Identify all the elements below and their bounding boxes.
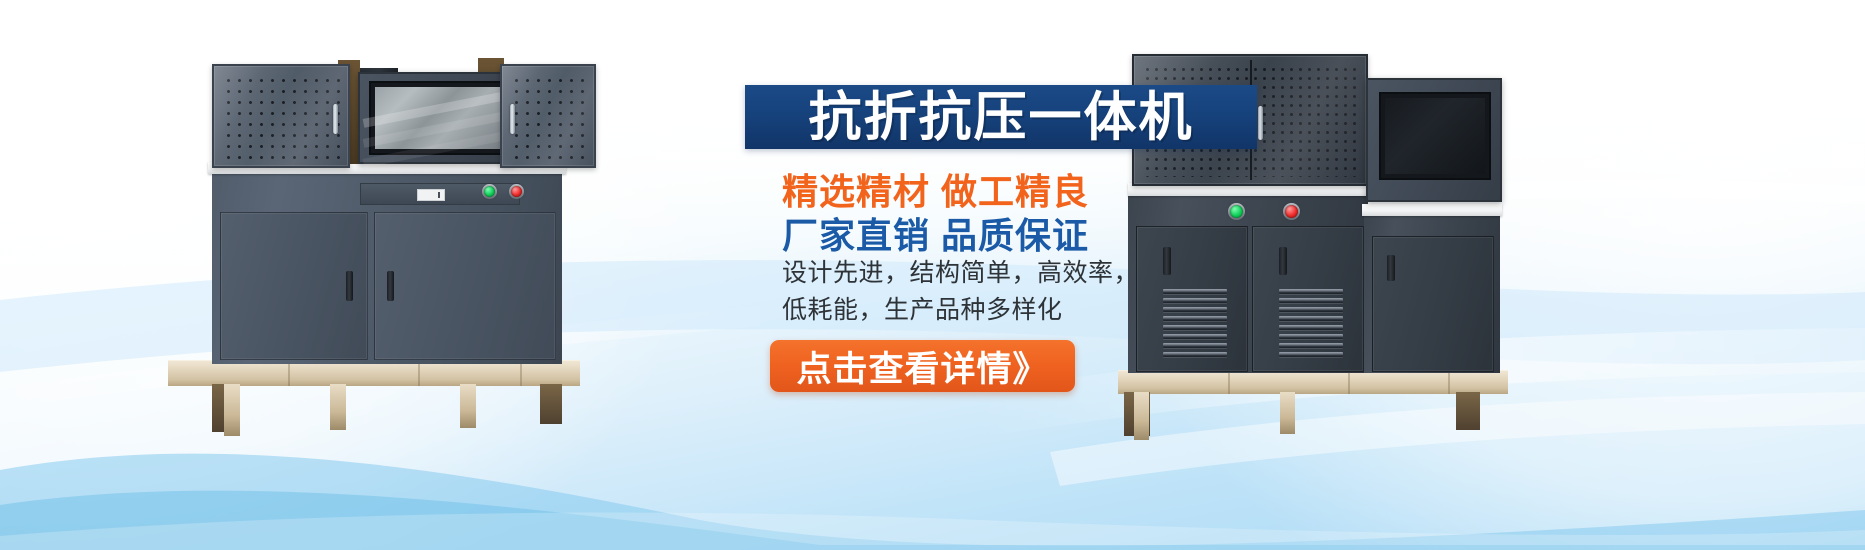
banner-copy: 抗折抗压一体机 精选精材 做工精良 厂家直销 品质保证 设计先进，结构简单，高效… — [0, 0, 1865, 550]
description-line-2: 低耗能，生产品种多样化 — [782, 290, 1063, 326]
cta-button[interactable]: 点击查看详情》 — [770, 340, 1075, 392]
promo-banner: 抗折抗压一体机 精选精材 做工精良 厂家直销 品质保证 设计先进，结构简单，高效… — [0, 0, 1865, 550]
banner-title: 抗折抗压一体机 — [809, 91, 1194, 144]
cta-button-label: 点击查看详情》 — [796, 341, 1048, 392]
banner-title-bar: 抗折抗压一体机 — [745, 85, 1257, 149]
headline-blue: 厂家直销 品质保证 — [782, 207, 1089, 259]
description-line-1: 设计先进，结构简单，高效率， — [782, 253, 1139, 289]
